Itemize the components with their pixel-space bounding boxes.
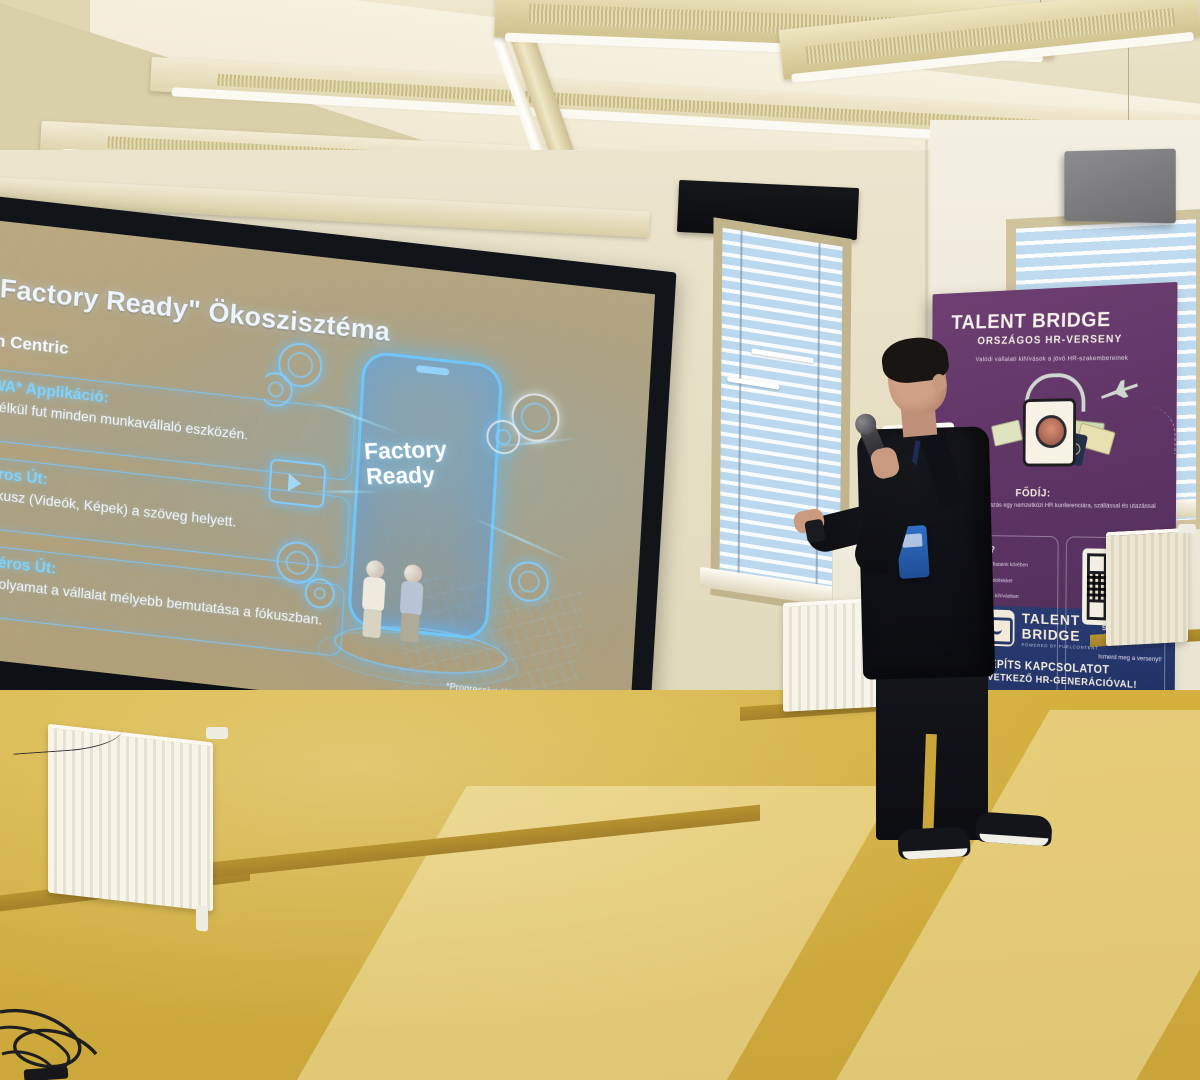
figure-body [362,576,386,612]
wall-speaker [1064,149,1175,224]
shoe [975,811,1053,846]
photo-scene: ratégia: "Factory Ready" Ökoszisztéma ta… [0,0,1200,1080]
presentation-slide: ratégia: "Factory Ready" Ökoszisztéma ta… [0,216,655,732]
character-figure [358,559,388,638]
figure-body [400,580,424,616]
gear-icon [304,577,336,610]
figure-legs [400,613,420,643]
shoe [897,826,970,860]
artwork-label-line2: Ready [365,460,516,490]
qr-finder [1087,553,1107,574]
presenter [780,330,1080,890]
cable-svg [0,1006,130,1080]
play-video-icon [268,458,326,508]
floor-cables [0,1006,130,1080]
artwork-label: Factory Ready [363,435,516,490]
radiator-valve [196,904,208,931]
radiator-valve [1178,524,1196,533]
ear [932,374,946,392]
radiator-valve [206,727,228,739]
airplane-icon [1099,376,1140,404]
slide-artwork: Factory Ready *Progressive Web Applicati… [248,309,598,711]
radiator [1106,528,1188,646]
character-figure [396,563,426,642]
presentation-clicker[interactable] [804,519,826,544]
figure-legs [362,608,382,638]
radiator [48,724,213,912]
